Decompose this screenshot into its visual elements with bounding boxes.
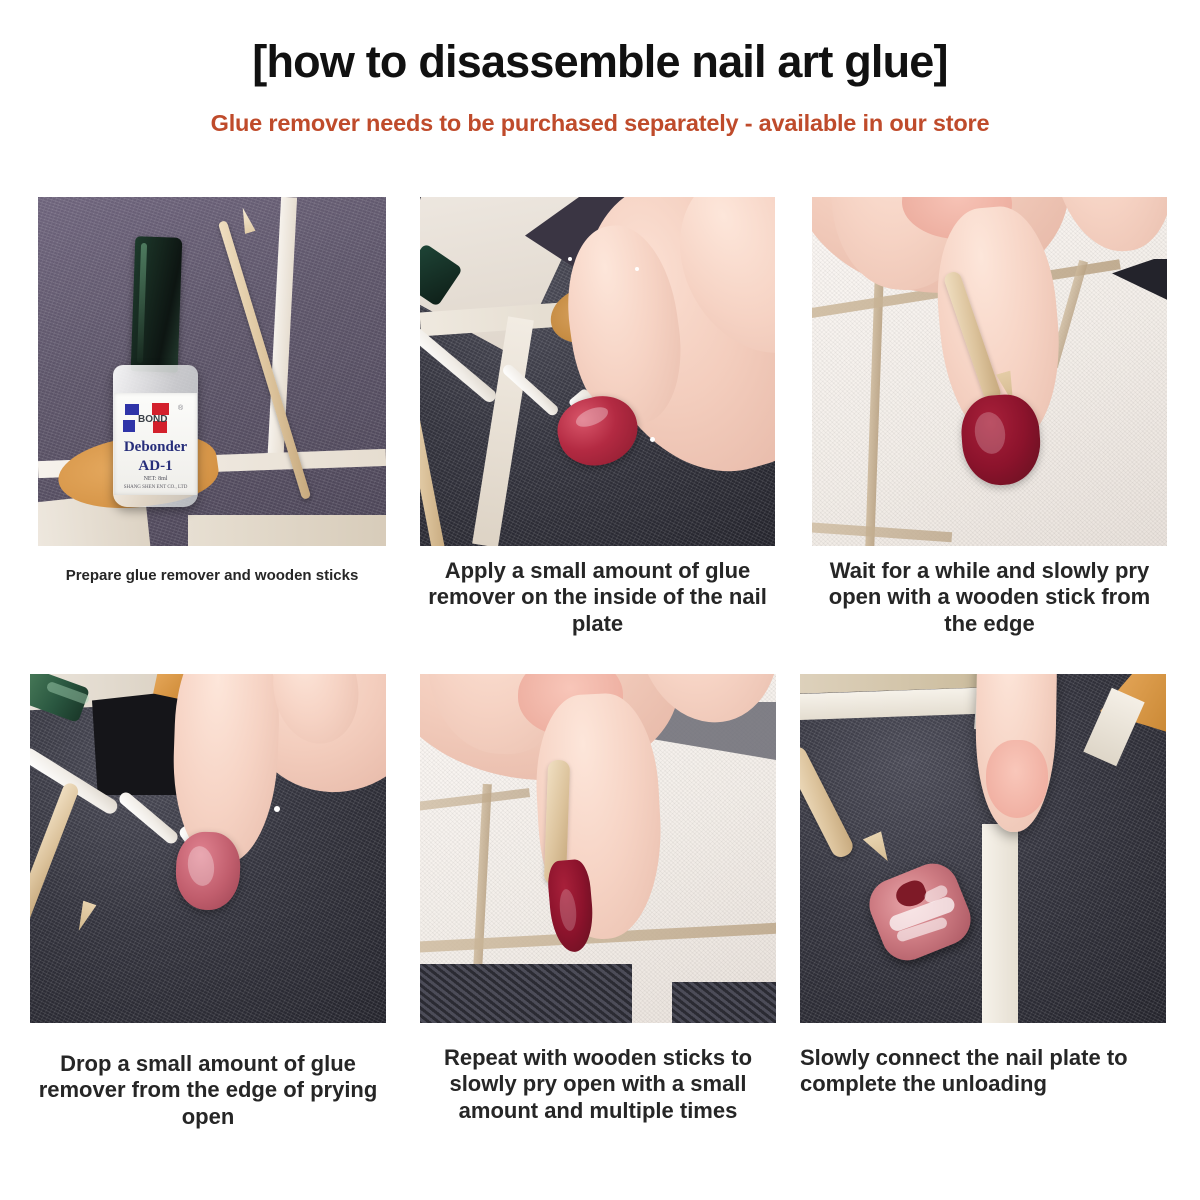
logo-square-blue-top (125, 404, 139, 415)
registered-mark: ® (178, 405, 183, 412)
step-1-photo: BOND ® Debonder AD-1 NET: 8ml SHANG SHEN… (38, 197, 386, 546)
label-product-code: AD-1 (114, 459, 197, 474)
step-2-caption: Apply a small amount of glue remover on … (420, 558, 775, 637)
step-3-photo (812, 197, 1167, 546)
sparkle-dot (568, 257, 572, 261)
step-6-photo (800, 674, 1166, 1023)
step-1: BOND ® Debonder AD-1 NET: 8ml SHANG SHEN… (38, 197, 386, 585)
sparkle-dot (274, 806, 280, 812)
step-4-photo (30, 674, 386, 1023)
dark-patch-bottom-right (672, 982, 776, 1023)
step-3: Wait for a while and slowly pry open wit… (812, 197, 1167, 637)
infographic-page: [how to disassemble nail art glue] Glue … (0, 0, 1200, 1200)
label-product-name: Debonder (114, 440, 197, 455)
step-3-caption: Wait for a while and slowly pry open wit… (812, 558, 1167, 637)
step-1-caption: Prepare glue remover and wooden sticks (38, 567, 386, 585)
label-company: SHANG SHEN ENT CO., LTD (114, 485, 197, 490)
dark-patch (92, 690, 187, 795)
surface-stripe-lower-right (188, 515, 386, 546)
page-subtitle: Glue remover needs to be purchased separ… (0, 110, 1200, 137)
surface-band-vertical (982, 824, 1018, 1023)
label-brand: BOND (138, 415, 167, 425)
step-6: Slowly connect the nail plate to complet… (800, 674, 1166, 1098)
step-5-caption: Repeat with wooden sticks to slowly pry … (420, 1045, 776, 1124)
page-title: [how to disassemble nail art glue] (0, 36, 1200, 88)
step-5: Repeat with wooden sticks to slowly pry … (420, 674, 776, 1124)
sparkle-dot (650, 437, 655, 442)
step-2: Apply a small amount of glue remover on … (420, 197, 775, 637)
step-6-caption: Slowly connect the nail plate to complet… (800, 1045, 1166, 1098)
logo-square-blue-bottom (123, 420, 135, 432)
step-5-photo (420, 674, 776, 1023)
step-2-photo (420, 197, 775, 546)
step-4-caption: Drop a small amount of glue remover from… (30, 1051, 386, 1130)
bottle-label: BOND ® Debonder AD-1 NET: 8ml SHANG SHEN… (114, 393, 197, 495)
label-net-volume: NET: 8ml (114, 476, 197, 482)
sparkle-dot (635, 267, 639, 271)
dark-patch-bottom (420, 964, 632, 1023)
fingertip-pad (986, 740, 1048, 818)
step-4: Drop a small amount of glue remover from… (30, 674, 386, 1130)
